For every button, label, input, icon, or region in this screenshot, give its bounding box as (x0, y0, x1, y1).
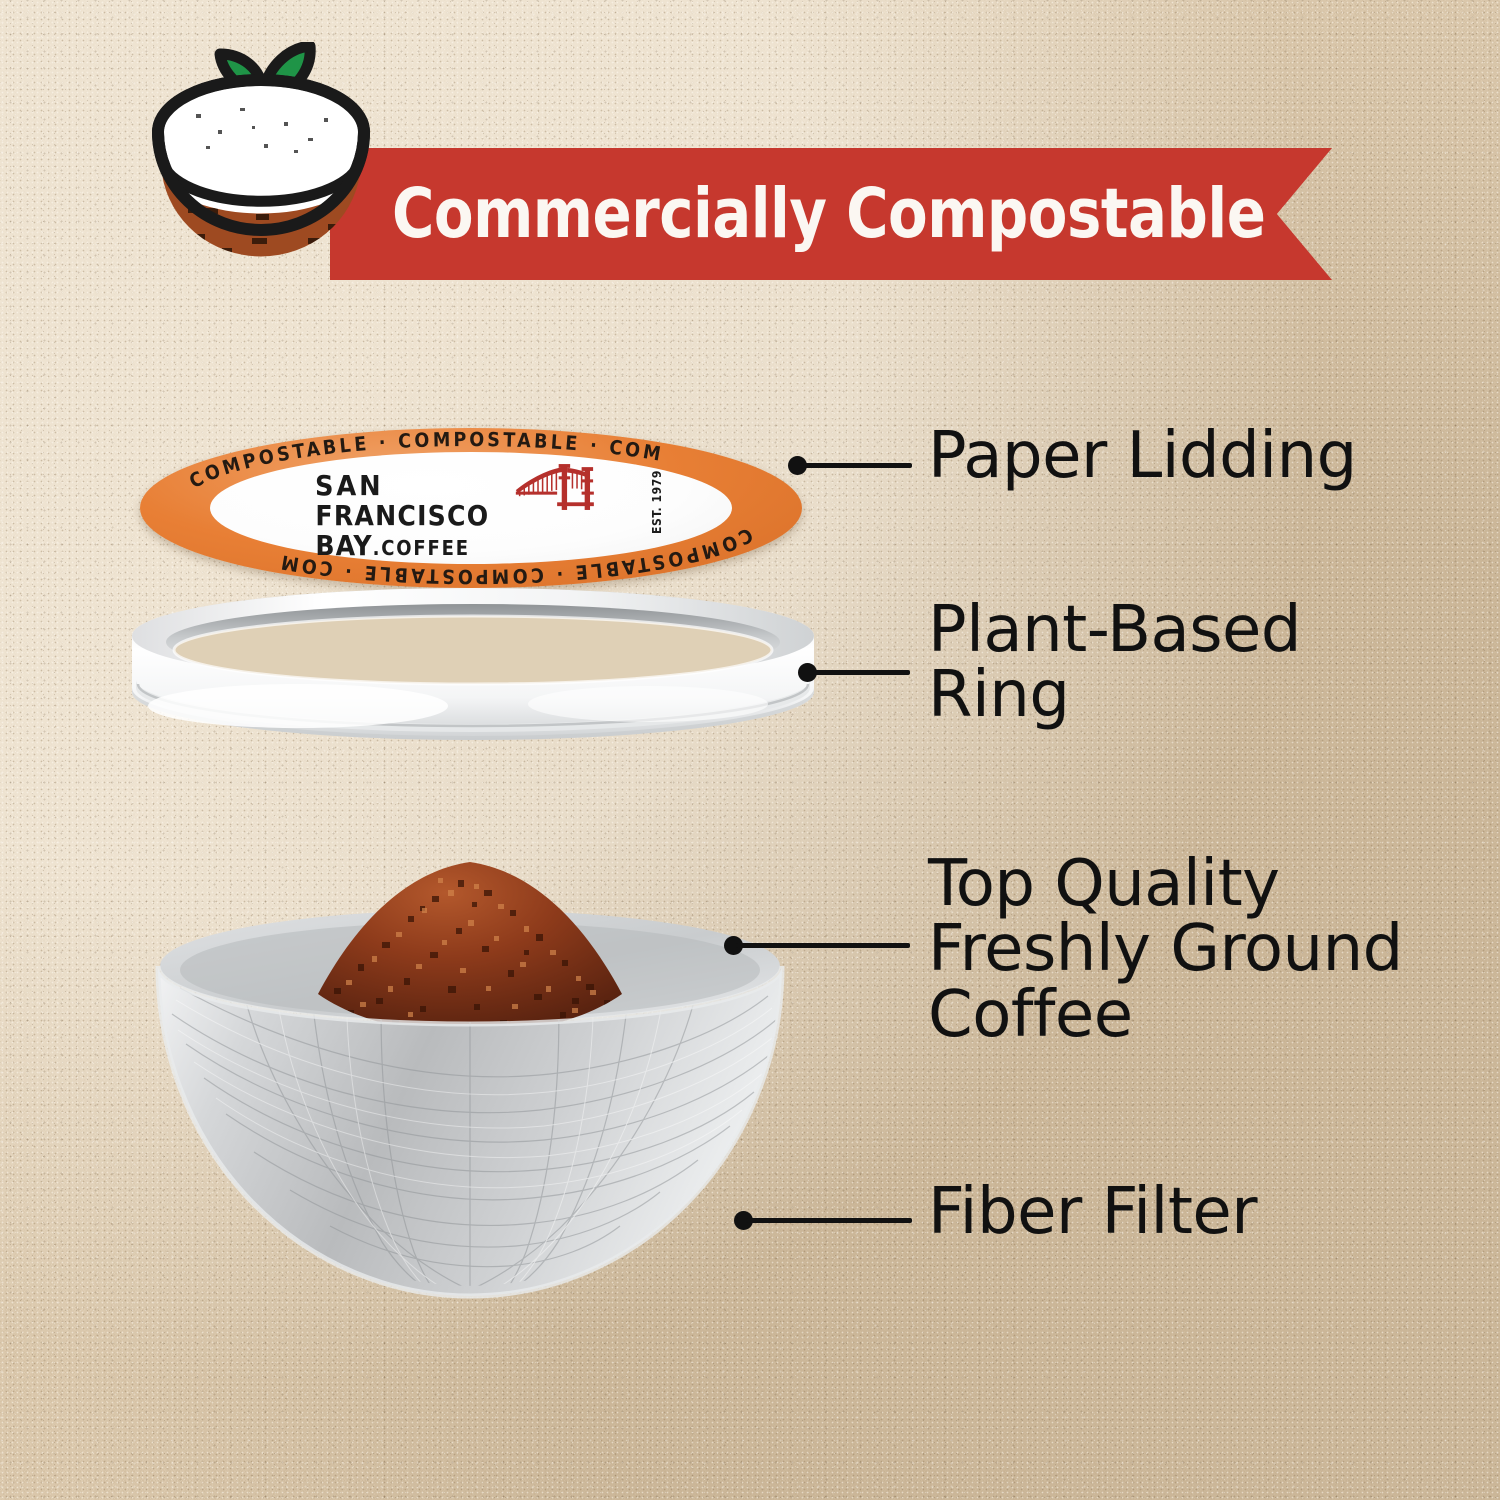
callout-label-paper-lidding: Paper Lidding (928, 424, 1357, 489)
callout-line-fiber-filter (746, 1218, 912, 1223)
callout-line-plant-based-ring (810, 670, 910, 675)
infographic-canvas: Commercially Compostable (0, 0, 1500, 1500)
callout-label-fiber-filter: Fiber Filter (928, 1180, 1257, 1245)
callout-label-plant-based-ring: Plant-Based Ring (928, 598, 1301, 729)
callout-label-coffee-grounds: Top Quality Freshly Ground Coffee (928, 852, 1403, 1048)
callout-group: Paper Lidding Plant-Based Ring Top Quali… (0, 0, 1500, 1500)
callout-line-paper-lidding (800, 463, 912, 468)
callout-line-coffee-grounds (736, 943, 910, 948)
